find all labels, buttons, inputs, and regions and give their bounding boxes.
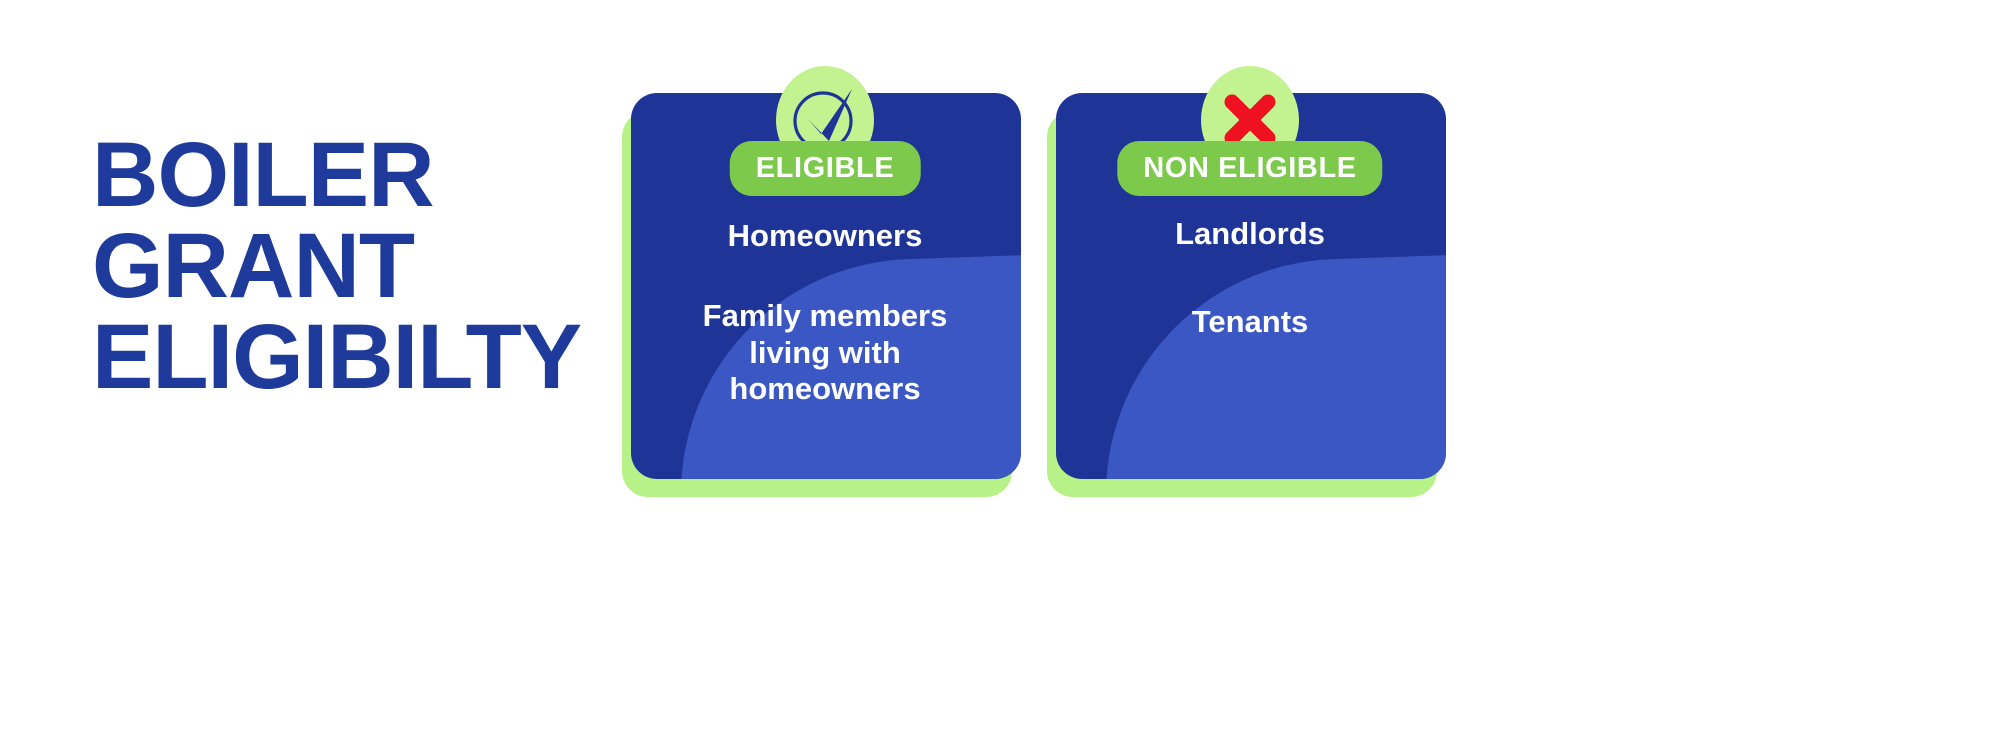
page-title-line-2: GRANT <box>92 221 612 312</box>
eligible-card-body: Homeowners Family membersliving withhome… <box>615 218 1035 407</box>
list-item: Family membersliving withhomeowners <box>641 298 1009 407</box>
non-eligible-card[interactable]: NON ELIGIBLE Landlords Tenants <box>1040 88 1460 500</box>
page-title-line-1: BOILER <box>92 130 612 221</box>
non-eligible-badge: NON ELIGIBLE <box>1117 141 1382 196</box>
non-eligible-card-body: Landlords Tenants <box>1040 216 1460 393</box>
page-title-line-3: ELIGIBILTY <box>92 312 612 403</box>
list-item: Landlords <box>1066 216 1434 252</box>
eligible-badge: ELIGIBLE <box>730 141 921 196</box>
list-item: Tenants <box>1066 304 1434 340</box>
page-title: BOILER GRANT ELIGIBILTY <box>92 130 612 403</box>
infographic-canvas: BOILER GRANT ELIGIBILTY ELIGIBLE Homeown… <box>0 0 2000 741</box>
eligible-card[interactable]: ELIGIBLE Homeowners Family membersliving… <box>615 88 1035 500</box>
list-item: Homeowners <box>641 218 1009 254</box>
